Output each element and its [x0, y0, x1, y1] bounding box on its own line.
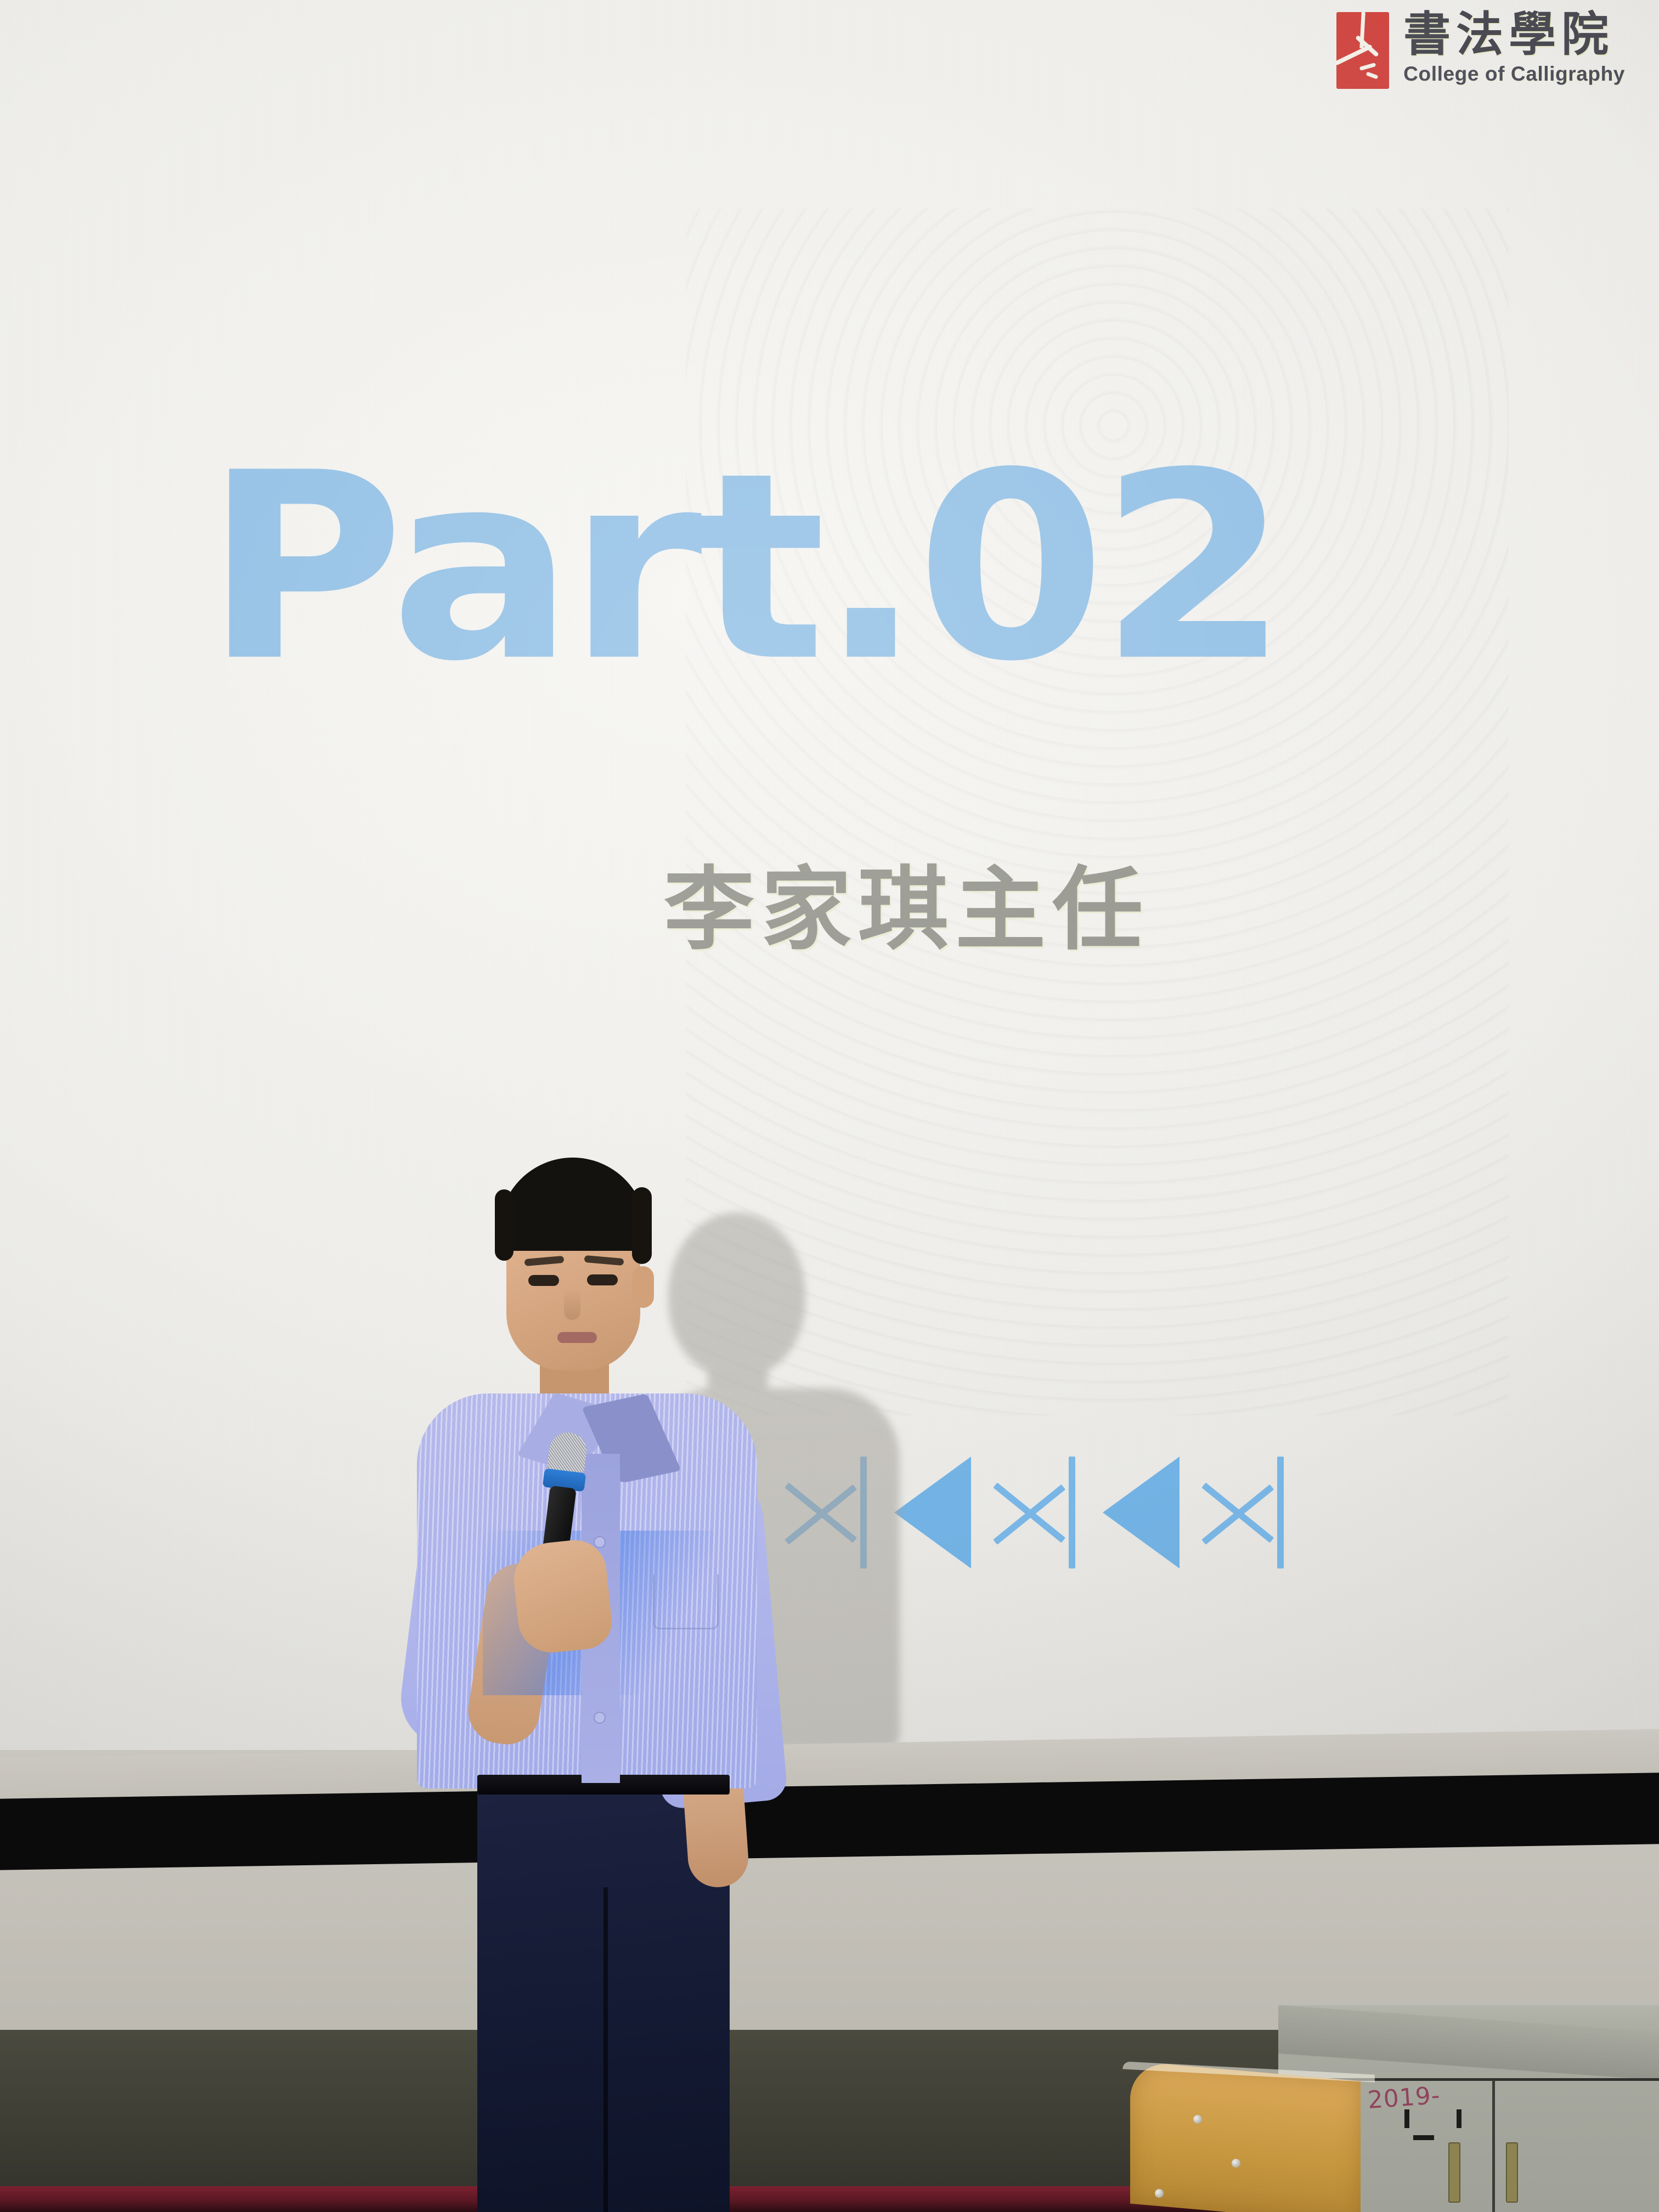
- shirt-button: [594, 1536, 606, 1548]
- cabinet-door-divider: [1492, 2080, 1495, 2212]
- shirt-pocket: [653, 1575, 719, 1629]
- cabinet-slot-mark: [1413, 2135, 1434, 2140]
- nose: [564, 1288, 580, 1320]
- chair-screw: [1193, 2115, 1202, 2124]
- speaker-figure: [417, 1158, 911, 2212]
- triangle-filled-icon: [1103, 1457, 1180, 1568]
- triangle-outline-icon: [998, 1457, 1075, 1568]
- shirt-button: [594, 1712, 606, 1724]
- eye-right: [587, 1274, 618, 1285]
- logo-chinese-name: 書法學院: [1403, 12, 1614, 58]
- mouth: [557, 1332, 597, 1343]
- cabinet-handle-left[interactable]: [1448, 2142, 1460, 2203]
- college-logo: 書法學院 College of Calligraphy: [1336, 12, 1625, 89]
- cabinet-handle-right[interactable]: [1506, 2142, 1518, 2203]
- logo-english-name: College of Calligraphy: [1403, 63, 1625, 86]
- presentation-photo: 書法學院 College of Calligraphy Part.02 李家琪主…: [0, 0, 1659, 2212]
- slide-part-title: Part.02: [204, 439, 1659, 697]
- cabinet-keyhole-mark: [1457, 2109, 1462, 2128]
- chair-screw: [1155, 2189, 1164, 2198]
- slide-subtitle-speaker-name: 李家琪主任: [664, 864, 1149, 955]
- trouser-leg-seam: [603, 1887, 608, 2212]
- red-seal-icon: [1336, 12, 1389, 89]
- speaker-hair: [499, 1158, 646, 1251]
- wooden-chair-back: [1130, 2061, 1361, 2212]
- eye-left: [528, 1275, 559, 1286]
- ear-right: [632, 1266, 654, 1308]
- hand-holding-microphone: [510, 1537, 614, 1656]
- cabinet-keyhole-mark: [1404, 2109, 1409, 2128]
- chair-screw: [1232, 2159, 1240, 2168]
- triangle-outline-icon: [1207, 1457, 1284, 1568]
